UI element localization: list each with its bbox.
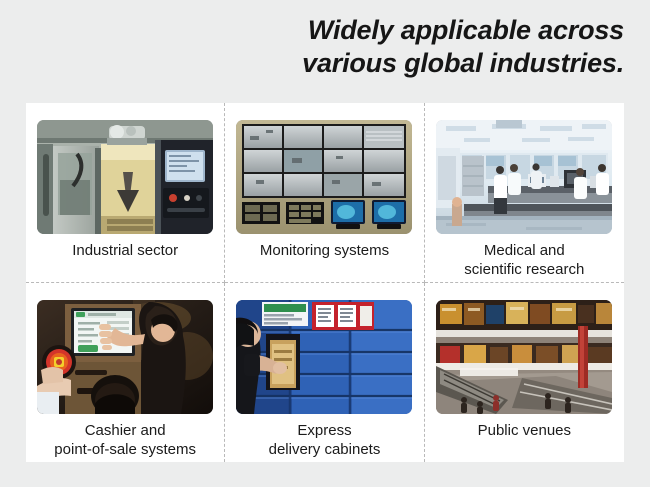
self-service-kiosk-photo — [37, 300, 213, 414]
grid-cell-public-venues[interactable]: Public venues — [425, 283, 624, 463]
grid-cell-industrial-sector[interactable]: Industrial sector — [26, 103, 225, 283]
caption-line-2: scientific research — [429, 260, 619, 279]
industrial-machine-photo — [37, 120, 213, 234]
caption-line-1: Cashier and — [85, 422, 166, 439]
cell-caption: Monitoring systems — [229, 241, 419, 260]
grid-cell-medical-scientific-research[interactable]: Medical and scientific research — [425, 103, 624, 283]
self-service-kiosk-illustration — [37, 300, 213, 414]
grid-cell-express-delivery-cabinets[interactable]: Express delivery cabinets — [225, 283, 424, 463]
page-title-line-1: Widely applicable across — [26, 14, 624, 47]
caption-line-1: Monitoring systems — [260, 242, 389, 259]
caption-line-1: Industrial sector — [72, 242, 178, 259]
cell-caption: Public venues — [429, 421, 619, 440]
cell-caption: Industrial sector — [30, 241, 220, 260]
cell-caption: Express delivery cabinets — [229, 421, 419, 459]
laboratory-illustration — [436, 120, 612, 234]
cctv-monitor-wall-photo — [236, 120, 412, 234]
cell-caption: Cashier and point-of-sale systems — [30, 421, 220, 459]
page-title-line-2: various global industries. — [26, 47, 624, 80]
caption-line-1: Medical and — [484, 242, 565, 259]
caption-line-1: Public venues — [478, 422, 571, 439]
parcel-locker-photo — [236, 300, 412, 414]
feature-card: Industrial sector — [26, 103, 624, 462]
parcel-locker-illustration — [236, 300, 412, 414]
caption-line-2: point-of-sale systems — [30, 440, 220, 459]
grid-cell-monitoring-systems[interactable]: Monitoring systems — [225, 103, 424, 283]
cell-caption: Medical and scientific research — [429, 241, 619, 279]
industry-grid: Industrial sector — [26, 103, 624, 462]
caption-line-2: delivery cabinets — [229, 440, 419, 459]
caption-line-1: Express — [297, 422, 351, 439]
grid-cell-cashier-pos-systems[interactable]: Cashier and point-of-sale systems — [26, 283, 225, 463]
shopping-mall-photo — [436, 300, 612, 414]
cctv-monitor-wall-illustration — [236, 120, 412, 234]
laboratory-photo — [436, 120, 612, 234]
industrial-machine-illustration — [37, 120, 213, 234]
shopping-mall-illustration — [436, 300, 612, 414]
page-title: Widely applicable across various global … — [26, 14, 624, 80]
